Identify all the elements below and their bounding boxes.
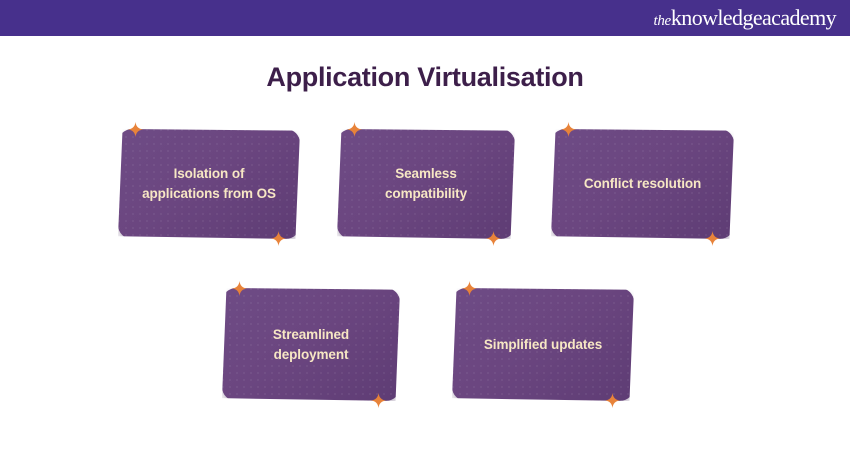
feature-card[interactable]: Isolation of applications from OS [118,129,300,239]
cards-container: Isolation of applications from OS Seamle… [0,0,850,450]
card-label: Isolation of applications from OS [128,164,290,203]
feature-card[interactable]: Streamlined deployment [222,288,400,401]
feature-card[interactable]: Conflict resolution [551,129,734,239]
feature-card[interactable]: Seamless compatibility [337,129,515,239]
card-label: Streamlined deployment [259,325,363,364]
card-label: Conflict resolution [570,174,715,194]
feature-card[interactable]: Simplified updates [452,288,634,401]
card-label: Seamless compatibility [371,164,481,203]
card-label: Simplified updates [470,335,616,355]
